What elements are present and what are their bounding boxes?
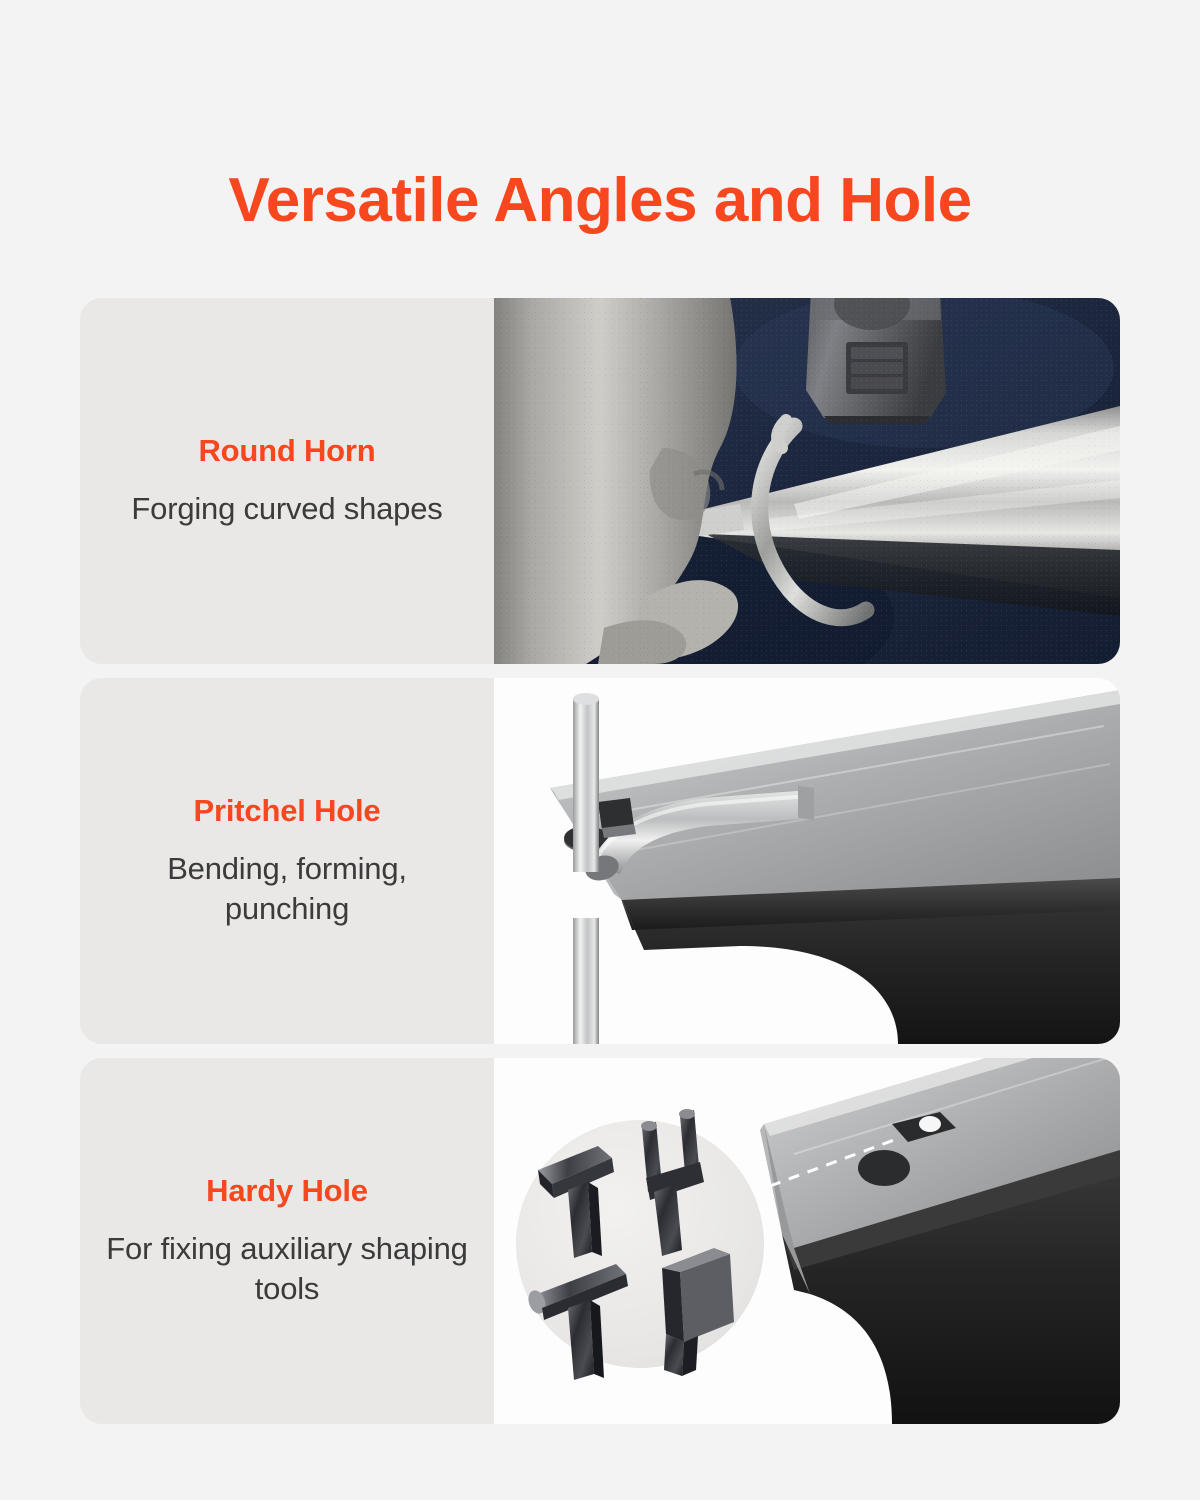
feature-card-text-hardy-hole: Hardy Hole For fixing auxiliary shaping … [80, 1058, 494, 1424]
hardy-hole-illustration [494, 1058, 1120, 1424]
feature-description: Bending, forming, punching [106, 849, 468, 928]
feature-card-text-pritchel-hole: Pritchel Hole Bending, forming, punching [80, 678, 494, 1044]
feature-card-round-horn: Round Horn Forging curved shapes [80, 298, 1120, 664]
round-horn-illustration [494, 298, 1120, 664]
feature-card-hardy-hole: Hardy Hole For fixing auxiliary shaping … [80, 1058, 1120, 1424]
feature-image-pritchel-hole [494, 678, 1120, 1044]
feature-heading: Pritchel Hole [194, 793, 381, 829]
feature-image-round-horn [494, 298, 1120, 664]
steel-rod-upper [573, 693, 599, 872]
feature-card-text-round-horn: Round Horn Forging curved shapes [80, 298, 494, 664]
pritchel-hole [858, 1150, 910, 1186]
feature-heading: Round Horn [198, 433, 375, 469]
pritchel-hole-illustration [494, 678, 1120, 1044]
feature-card-pritchel-hole: Pritchel Hole Bending, forming, punching [80, 678, 1120, 1044]
feature-description: Forging curved shapes [131, 489, 442, 529]
steel-rod-lower [573, 918, 599, 1044]
feature-heading: Hardy Hole [206, 1173, 368, 1209]
page-title: Versatile Angles and Hole [0, 168, 1200, 234]
feature-description: For fixing auxiliary shaping tools [106, 1229, 468, 1308]
feature-image-hardy-hole [494, 1058, 1120, 1424]
